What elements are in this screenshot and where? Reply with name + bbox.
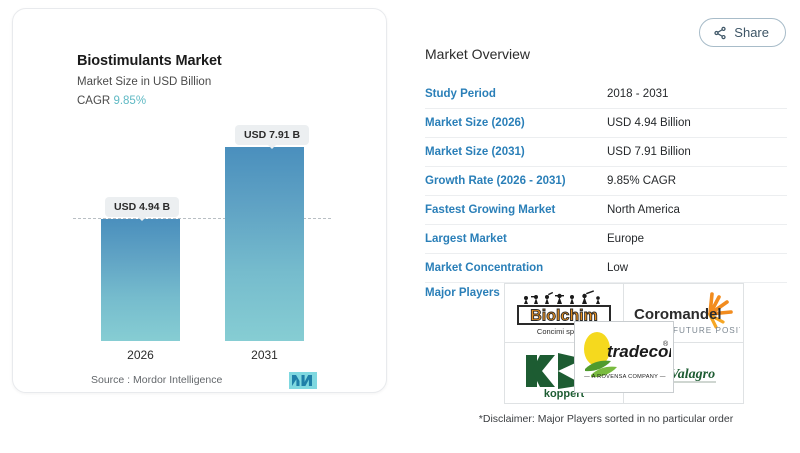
logo-tradecorp-text: tradecorp xyxy=(607,342,671,361)
table-row: Study Period 2018 - 2031 xyxy=(425,80,787,109)
row-value: 2018 - 2031 xyxy=(607,88,668,100)
x-tick-2031: 2031 xyxy=(225,348,304,362)
x-tick-2026: 2026 xyxy=(101,348,180,362)
row-value: Low xyxy=(607,262,628,274)
row-key: Market Size (2031) xyxy=(425,146,607,158)
row-value: USD 4.94 Billion xyxy=(607,117,691,129)
row-key: Largest Market xyxy=(425,233,607,245)
bar-2031[interactable] xyxy=(225,147,304,341)
table-row: Largest Market Europe xyxy=(425,225,787,254)
row-key: Growth Rate (2026 - 2031) xyxy=(425,175,607,187)
market-summary-page: Share Biostimulants Market Market Size i… xyxy=(0,0,800,453)
logo-tradecorp-tagline: — A ROVENSA COMPANY — xyxy=(584,374,666,380)
row-key: Fastest Growing Market xyxy=(425,204,607,216)
row-key: Market Size (2026) xyxy=(425,117,607,129)
table-row: Fastest Growing Market North America xyxy=(425,196,787,225)
row-key: Study Period xyxy=(425,88,607,100)
row-value: 9.85% CAGR xyxy=(607,175,676,187)
row-value: North America xyxy=(607,204,680,216)
chart-source: Source : Mordor Intelligence xyxy=(91,374,222,386)
bar-2026[interactable] xyxy=(101,219,180,341)
svg-text:®: ® xyxy=(663,340,669,348)
share-nodes-icon xyxy=(713,26,727,40)
market-overview-panel: Market Overview Study Period 2018 - 2031… xyxy=(425,46,787,309)
disclaimer-text: *Disclaimer: Major Players sorted in no … xyxy=(425,413,787,425)
logo-valagro-text: Valagro xyxy=(670,367,715,382)
bar-label-2026: USD 4.94 B xyxy=(105,197,179,217)
mordor-intelligence-logo xyxy=(289,372,317,389)
bar-chart-plot: USD 4.94 B USD 7.91 B 2026 2031 xyxy=(13,9,388,394)
bar-label-2031: USD 7.91 B xyxy=(235,125,309,145)
table-row: Growth Rate (2026 - 2031) 9.85% CAGR xyxy=(425,167,787,196)
logo-coromandel-tagline: FUTURE POSITIVE xyxy=(673,326,740,335)
share-button[interactable]: Share xyxy=(699,18,786,47)
major-players-logos: Biolchim Concimi speciali Coromandel FUT… xyxy=(504,283,744,405)
table-row: Market Size (2026) USD 4.94 Billion xyxy=(425,109,787,138)
overview-title: Market Overview xyxy=(425,46,787,62)
logo-tradecorp[interactable]: tradecorp ® — A ROVENSA COMPANY — xyxy=(574,321,674,393)
row-value: Europe xyxy=(607,233,644,245)
table-row: Market Concentration Low xyxy=(425,254,787,283)
row-value: USD 7.91 Billion xyxy=(607,146,691,158)
chart-card: Biostimulants Market Market Size in USD … xyxy=(12,8,387,393)
table-row: Market Size (2031) USD 7.91 Billion xyxy=(425,138,787,167)
share-button-label: Share xyxy=(734,25,769,40)
row-key: Market Concentration xyxy=(425,262,607,274)
